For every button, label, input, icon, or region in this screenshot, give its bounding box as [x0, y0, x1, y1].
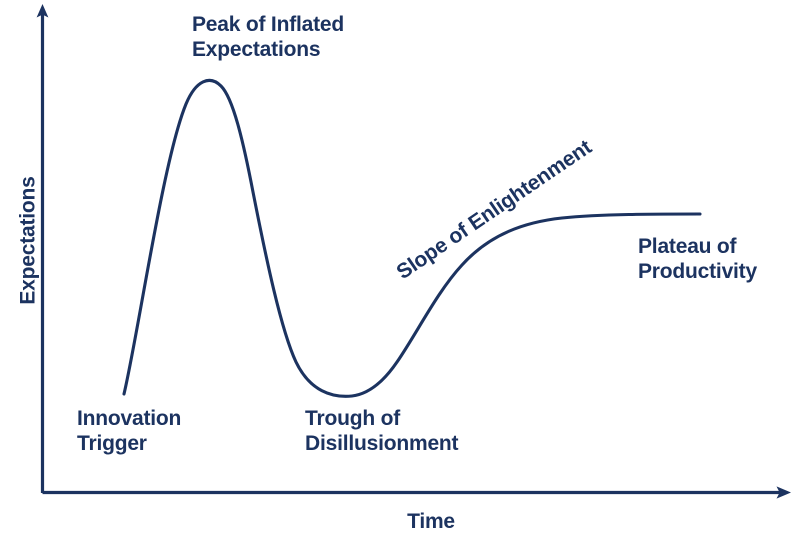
- y-axis-label: Expectations: [16, 151, 41, 331]
- label-plateau-of-productivity: Plateau of Productivity: [638, 234, 798, 284]
- label-trough-of-disillusionment: Trough of Disillusionment: [305, 406, 505, 456]
- x-axis-label: Time: [341, 509, 521, 534]
- hype-cycle-curve: [124, 80, 700, 396]
- hype-cycle-chart: Peak of Inflated Expectations Innovation…: [0, 0, 800, 533]
- label-innovation-trigger: Innovation Trigger: [77, 406, 257, 456]
- label-peak-of-inflated-expectations: Peak of Inflated Expectations: [192, 12, 382, 62]
